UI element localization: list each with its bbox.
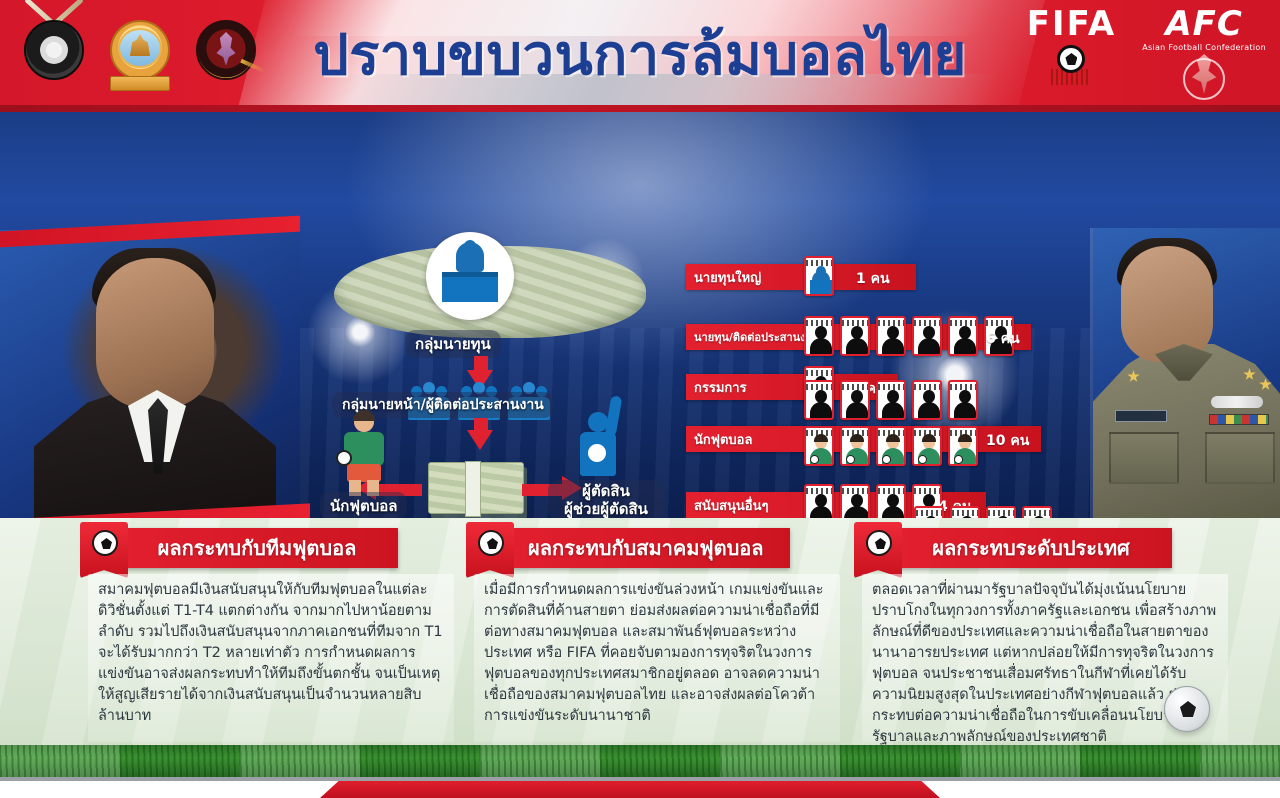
roster-label: กรรมการ [686,377,747,398]
mugshot-card [948,316,978,356]
roster-count: 6 คน [986,328,1020,350]
roster-count: 10 คน [986,430,1029,452]
roster-label: นายทุนใหญ่ [686,267,761,288]
mugshot-card [948,426,978,466]
mugshot-card [948,380,978,420]
police-commissioner-portrait [1090,228,1280,518]
footer-red-trapezoid [320,781,940,798]
afc-subtitle: Asian Football Confederation [1142,43,1266,52]
mugshot-card [912,316,942,356]
impact-panels-section: ผลกระทบกับทีมฟุตบอล สมาคมฟุตบอลมีเงินสนั… [0,518,1280,750]
panel-text: เมื่อมีการกำหนดผลการแข่งขันล่วงหน้า เกมแ… [484,580,830,727]
soccer-ball-icon [866,530,892,556]
panel-body: สมาคมฟุตบอลมีเงินสนับสนุนให้กับทีมฟุตบอล… [88,574,454,742]
panel-text: ตลอดเวลาที่ผ่านมารัฐบาลปัจจุบันได้มุ่งเน… [872,580,1218,748]
mugshot-card [876,316,906,356]
mugshot-card [804,256,834,296]
corruption-flow-diagram: กลุ่มนายทุน [300,230,680,518]
header-bottom-edge [0,105,1280,112]
fifa-ball-icon [1049,45,1093,83]
panel-heading-bar: ผลกระทบกับสมาคมฟุตบอล [484,528,790,568]
flow-label-tycoon-group: กลุ่มนายทุน [405,330,501,358]
fifa-wordmark: FIFA [1027,6,1117,42]
referee-label-line2: ผู้ช่วยผู้ตัดสิน [564,500,648,518]
referee-icon [562,396,632,492]
mugshot-card [804,380,834,420]
roster-label: สนับสนุนอื่นๆ [686,495,768,516]
mugshot-card [804,484,834,518]
soccer-ball-icon [92,530,118,556]
impact-panel-association: ผลกระทบกับสมาคมฟุตบอล เมื่อมีการกำหนดผลก… [460,518,850,750]
referee-label-line1: ผู้ตัดสิน [582,482,630,500]
soccer-ball-icon [1164,686,1210,732]
impact-panel-national: ผลกระทบระดับประเทศ ตลอดเวลาที่ผ่านมารัฐบ… [848,518,1238,750]
mugshot-card [876,484,906,518]
agency-seals [18,16,262,92]
suspect-roster: นายทุนใหญ่ 1 คน นายทุน/ติดต่อประสานงาน [686,252,1106,518]
roster-label: นายทุน/ติดต่อประสานงาน [686,328,819,346]
mugshot-card [804,316,834,356]
royal-thai-police-seal-icon [18,16,90,92]
flow-label-referee: ผู้ตัดสิน ผู้ช่วยผู้ตัดสิน [548,480,664,518]
mugshot-card [840,426,870,466]
impact-panel-team: ผลกระทบกับทีมฟุตบอล สมาคมฟุตบอลมีเงินสนั… [74,518,464,750]
mugshot-card [876,380,906,420]
department-seal-icon [104,16,176,92]
mugshot-card [1022,506,1052,518]
panel-heading-text: ผลกระทบกับทีมฟุตบอล [114,532,383,564]
tycoon-podium-icon [426,232,514,320]
header-banner: ปราบขบวนการล้มบอลไทย FIFA AFC Asian Foot… [0,0,1280,112]
afc-logo: AFC Asian Football Confederation [1142,6,1266,100]
infographic-page: ปราบขบวนการล้มบอลไทย FIFA AFC Asian Foot… [0,0,1280,798]
panel-heading-text: ผลกระทบระดับประเทศ [888,532,1156,564]
panel-heading-bar: ผลกระทบระดับประเทศ [872,528,1172,568]
roster-label: นักฟุตบอล [686,429,752,450]
afc-wordmark: AFC [1165,6,1243,42]
panel-text: สมาคมฟุตบอลมีเงินสนับสนุนให้กับทีมฟุตบอล… [98,580,444,727]
mugshot-card [986,506,1016,518]
mugshot-card [950,506,980,518]
soccer-ball-icon [478,530,504,556]
football-association-president-portrait [0,230,300,518]
federation-logos: FIFA AFC Asian Football Confederation [1027,6,1266,100]
arrow-down-icon-2 [467,430,493,450]
grass-strip [0,745,1280,781]
panel-body: เมื่อมีการกำหนดผลการแข่งขันล่วงหน้า เกมแ… [474,574,840,742]
main-stage: กลุ่มนายทุน [0,112,1280,518]
flow-label-footballer: นักฟุตบอล [320,492,407,518]
mugshot-card [804,426,834,466]
provincial-seal-icon [190,16,262,92]
mugshot-card [914,506,944,518]
afc-emblem-icon [1181,54,1227,100]
mugshot-card [840,316,870,356]
mugshot-card [912,380,942,420]
roster-count: 1 คน [856,268,890,290]
mugshot-card [876,426,906,466]
footballer-icon [334,412,394,496]
cash-stack-icon [428,462,524,514]
fifa-logo: FIFA [1027,6,1117,83]
panel-heading-bar: ผลกระทบกับทีมฟุตบอล [98,528,398,568]
mugshot-card [912,426,942,466]
mugshot-card [840,380,870,420]
mugshot-card [840,484,870,518]
panel-heading-text: ผลกระทบกับสมาคมฟุตบอล [484,532,790,564]
